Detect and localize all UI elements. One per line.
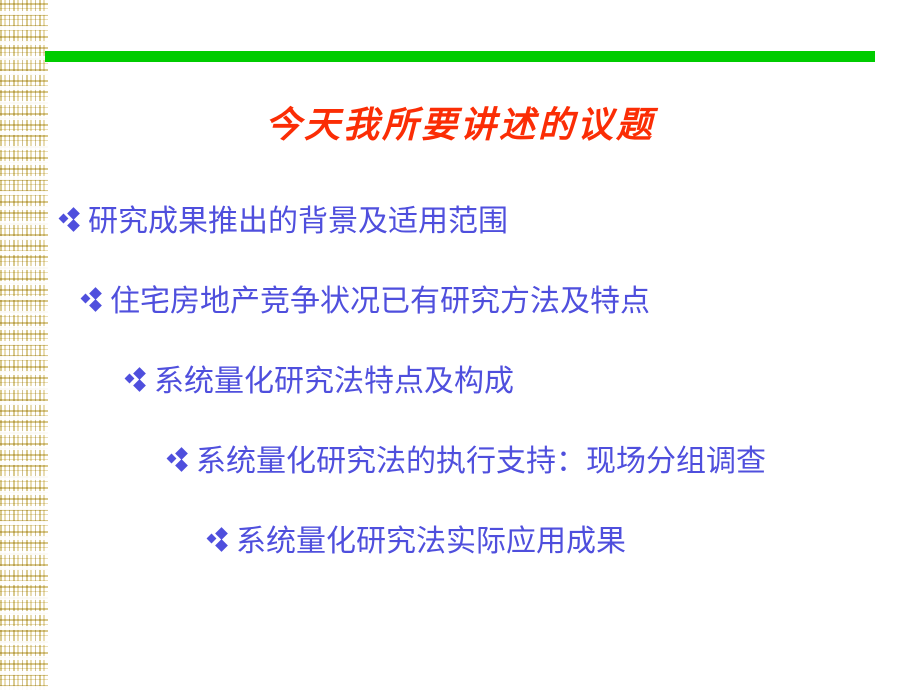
list-item: 系统量化研究法特点及构成: [126, 360, 920, 404]
diamond-cluster-bullet-icon: [208, 524, 234, 558]
diamond-cluster-bullet-icon: [126, 364, 152, 398]
presentation-slide: 今天我所要讲述的议题 研究成果推出的背景及适用范围 住宅房地产竞争状况已有研究方…: [0, 0, 920, 690]
list-item: 住宅房地产竞争状况已有研究方法及特点: [82, 280, 920, 324]
list-item: 系统量化研究法实际应用成果: [208, 520, 920, 564]
slide-title: 今天我所要讲述的议题: [0, 96, 920, 148]
title-underline-rule: [45, 51, 875, 62]
list-item-label: 研究成果推出的背景及适用范围: [88, 200, 508, 244]
list-item-label: 住宅房地产竞争状况已有研究方法及特点: [110, 280, 650, 324]
list-item-label: 系统量化研究法实际应用成果: [236, 520, 626, 564]
list-item-label: 系统量化研究法的执行支持：现场分组调查: [196, 440, 766, 484]
diamond-cluster-bullet-icon: [60, 204, 86, 238]
list-item: 研究成果推出的背景及适用范围: [60, 200, 920, 244]
diamond-cluster-bullet-icon: [168, 444, 194, 478]
agenda-bullet-list: 研究成果推出的背景及适用范围 住宅房地产竞争状况已有研究方法及特点 系统量化研究…: [0, 200, 920, 564]
list-item-label: 系统量化研究法特点及构成: [154, 360, 514, 404]
diamond-cluster-bullet-icon: [82, 284, 108, 318]
list-item: 系统量化研究法的执行支持：现场分组调查: [168, 440, 920, 484]
